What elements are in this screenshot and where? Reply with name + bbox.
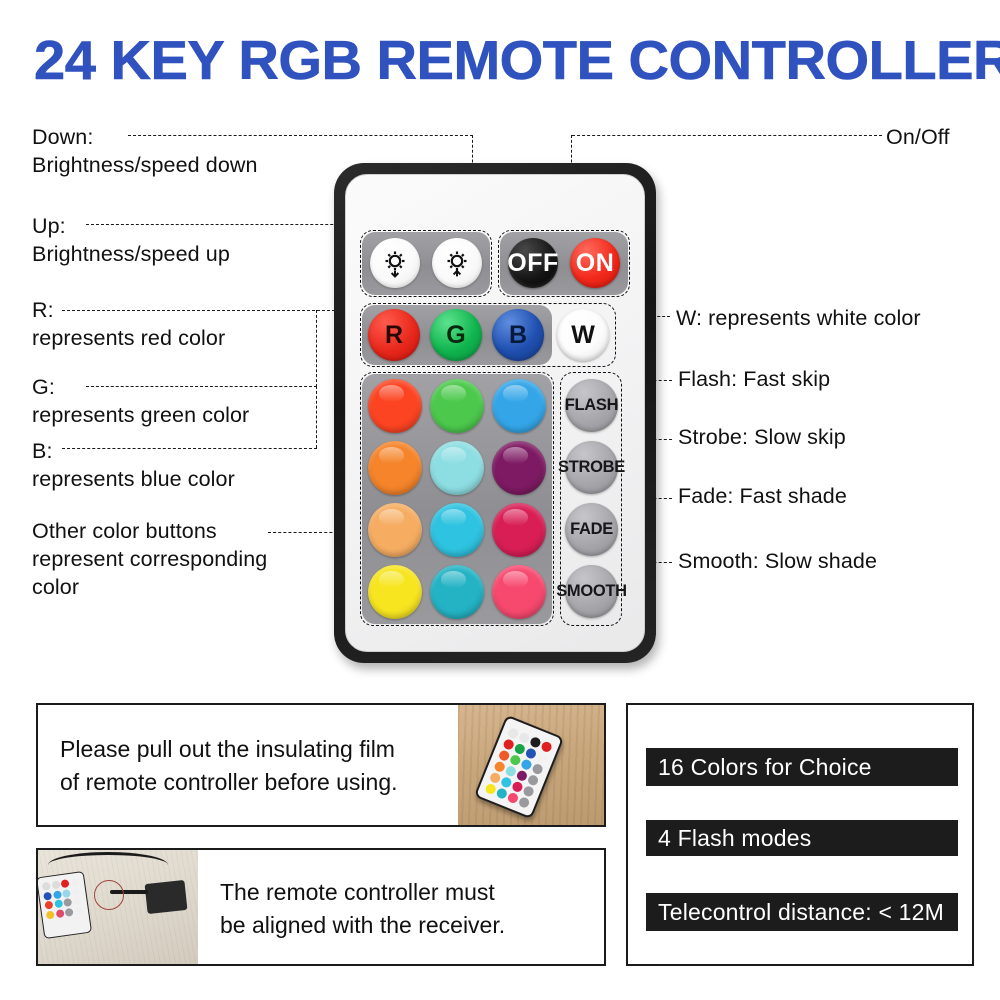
brightness-up-button[interactable]	[432, 238, 482, 288]
color-swatch[interactable]	[492, 565, 546, 619]
remote-controller: OFF ON R G B W	[334, 163, 656, 663]
banner-distance: Telecontrol distance: < 12M	[646, 893, 958, 931]
banner-colors: 16 Colors for Choice	[646, 748, 958, 786]
color-swatch[interactable]	[368, 441, 422, 495]
b-button[interactable]: B	[492, 309, 544, 361]
on-button[interactable]: ON	[570, 238, 620, 288]
annotation-up: Up: Brightness/speed up	[32, 213, 332, 269]
leader-onoff-h	[572, 135, 882, 136]
off-button[interactable]: OFF	[508, 238, 558, 288]
color-swatch[interactable]	[368, 379, 422, 433]
annotation-down: Down: Brightness/speed down	[32, 124, 332, 180]
annotation-smooth: Smooth: Slow shade	[678, 548, 978, 576]
annotation-w: W: represents white color	[676, 305, 996, 333]
leader-b-v	[316, 386, 317, 448]
sun-up-icon	[440, 246, 474, 280]
annotation-r: R: represents red color	[32, 297, 332, 353]
leader-down-h	[128, 135, 473, 136]
fade-button[interactable]: FADE	[565, 503, 618, 556]
smooth-button[interactable]: SMOOTH	[565, 565, 618, 618]
brightness-down-button[interactable]	[370, 238, 420, 288]
color-swatch[interactable]	[368, 503, 422, 557]
cable-loop	[48, 852, 168, 878]
receiver-photo	[38, 850, 198, 964]
color-swatch[interactable]	[492, 441, 546, 495]
annotation-flash: Flash: Fast skip	[678, 366, 978, 394]
strobe-button[interactable]: STROBE	[565, 441, 618, 494]
color-swatch[interactable]	[492, 379, 546, 433]
leader-g-h	[86, 386, 317, 387]
annotation-fade: Fade: Fast shade	[678, 483, 978, 511]
alignment-highlight-circle	[94, 880, 124, 910]
g-button[interactable]: G	[430, 309, 482, 361]
color-swatch[interactable]	[430, 441, 484, 495]
w-button[interactable]: W	[557, 309, 609, 361]
tip-film-card: Please pull out the insulating film of r…	[36, 703, 606, 827]
mini-remote-in-hand	[38, 871, 92, 939]
color-swatch[interactable]	[492, 503, 546, 557]
color-swatch[interactable]	[430, 503, 484, 557]
color-swatch[interactable]	[430, 565, 484, 619]
annotation-strobe: Strobe: Slow skip	[678, 424, 978, 452]
flash-button[interactable]: FLASH	[565, 379, 618, 432]
leader-b-h	[62, 448, 317, 449]
receiver-box	[145, 880, 188, 914]
infographic-page: 24 KEY RGB REMOTE CONTROLLER Down: Brigh…	[0, 0, 1000, 1000]
r-button[interactable]: R	[368, 309, 420, 361]
color-swatch[interactable]	[368, 565, 422, 619]
remote-face: OFF ON R G B W	[345, 174, 645, 652]
leader-r-h	[62, 310, 380, 311]
tip-film-text: Please pull out the insulating film of r…	[60, 733, 440, 798]
remote-photo-wood	[458, 705, 604, 825]
tip-align-card: The remote controller must be aligned wi…	[36, 848, 606, 966]
color-swatch[interactable]	[430, 379, 484, 433]
annotation-other-colors: Other color buttons represent correspond…	[32, 518, 342, 602]
sun-down-icon	[378, 246, 412, 280]
annotation-g: G: represents green color	[32, 374, 332, 430]
annotation-onoff: On/Off	[886, 124, 1000, 152]
banner-modes: 4 Flash modes	[646, 820, 958, 856]
page-title: 24 KEY RGB REMOTE CONTROLLER	[34, 28, 993, 92]
tip-align-text: The remote controller must be aligned wi…	[220, 876, 600, 941]
leader-g-bracket-v	[316, 310, 317, 387]
features-card: 16 Colors for Choice 4 Flash modes Telec…	[626, 703, 974, 966]
annotation-b: B: represents blue color	[32, 438, 332, 494]
